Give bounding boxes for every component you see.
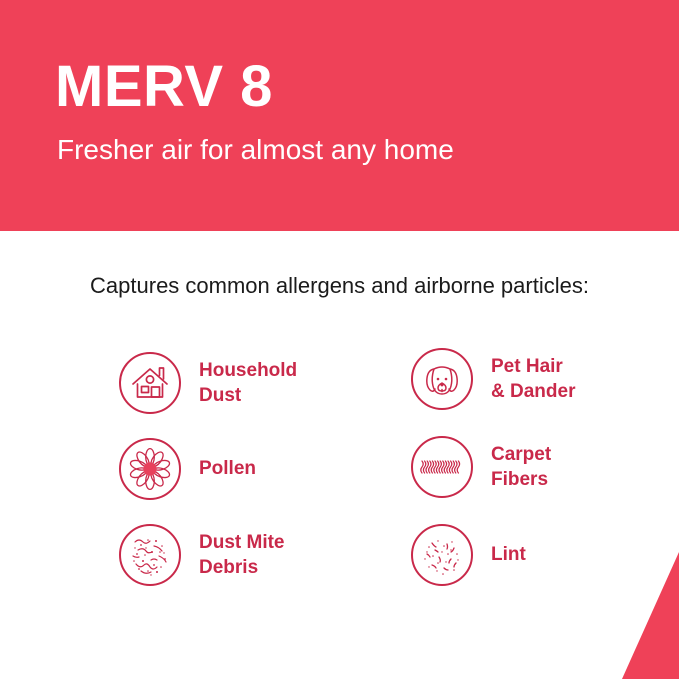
feature-item-dust-mite-debris: Dust Mite Debris bbox=[119, 524, 297, 586]
feature-label: Dust Mite Debris bbox=[199, 530, 285, 580]
intro-text: Captures common allergens and airborne p… bbox=[0, 273, 679, 299]
feature-label: Pollen bbox=[199, 456, 256, 481]
header-band: MERV 8 Fresher air for almost any home bbox=[0, 0, 679, 231]
flower-pollen-icon bbox=[119, 438, 181, 500]
page-title: MERV 8 bbox=[55, 58, 273, 116]
feature-item-pollen: Pollen bbox=[119, 438, 297, 500]
feature-item-lint: Lint bbox=[411, 524, 575, 586]
feature-item-carpet-fibers: Carpet Fibers bbox=[411, 436, 575, 498]
feature-label: Carpet Fibers bbox=[491, 442, 551, 492]
house-icon bbox=[119, 352, 181, 414]
corner-triangle-decoration bbox=[622, 552, 679, 679]
lint-specks-icon bbox=[411, 524, 473, 586]
dog-face-icon bbox=[411, 348, 473, 410]
feature-column-right: Pet Hair & Dander bbox=[411, 348, 575, 612]
feature-label: Household Dust bbox=[199, 358, 297, 408]
carpet-fibers-icon bbox=[411, 436, 473, 498]
merv8-infographic: MERV 8 Fresher air for almost any home C… bbox=[0, 0, 679, 679]
feature-column-left: Household Dust bbox=[119, 352, 297, 610]
feature-item-household-dust: Household Dust bbox=[119, 352, 297, 414]
feature-label: Lint bbox=[491, 542, 526, 567]
feature-item-pet-hair-dander: Pet Hair & Dander bbox=[411, 348, 575, 410]
page-subtitle: Fresher air for almost any home bbox=[57, 135, 454, 166]
feature-label: Pet Hair & Dander bbox=[491, 354, 575, 404]
dust-mite-debris-icon bbox=[119, 524, 181, 586]
